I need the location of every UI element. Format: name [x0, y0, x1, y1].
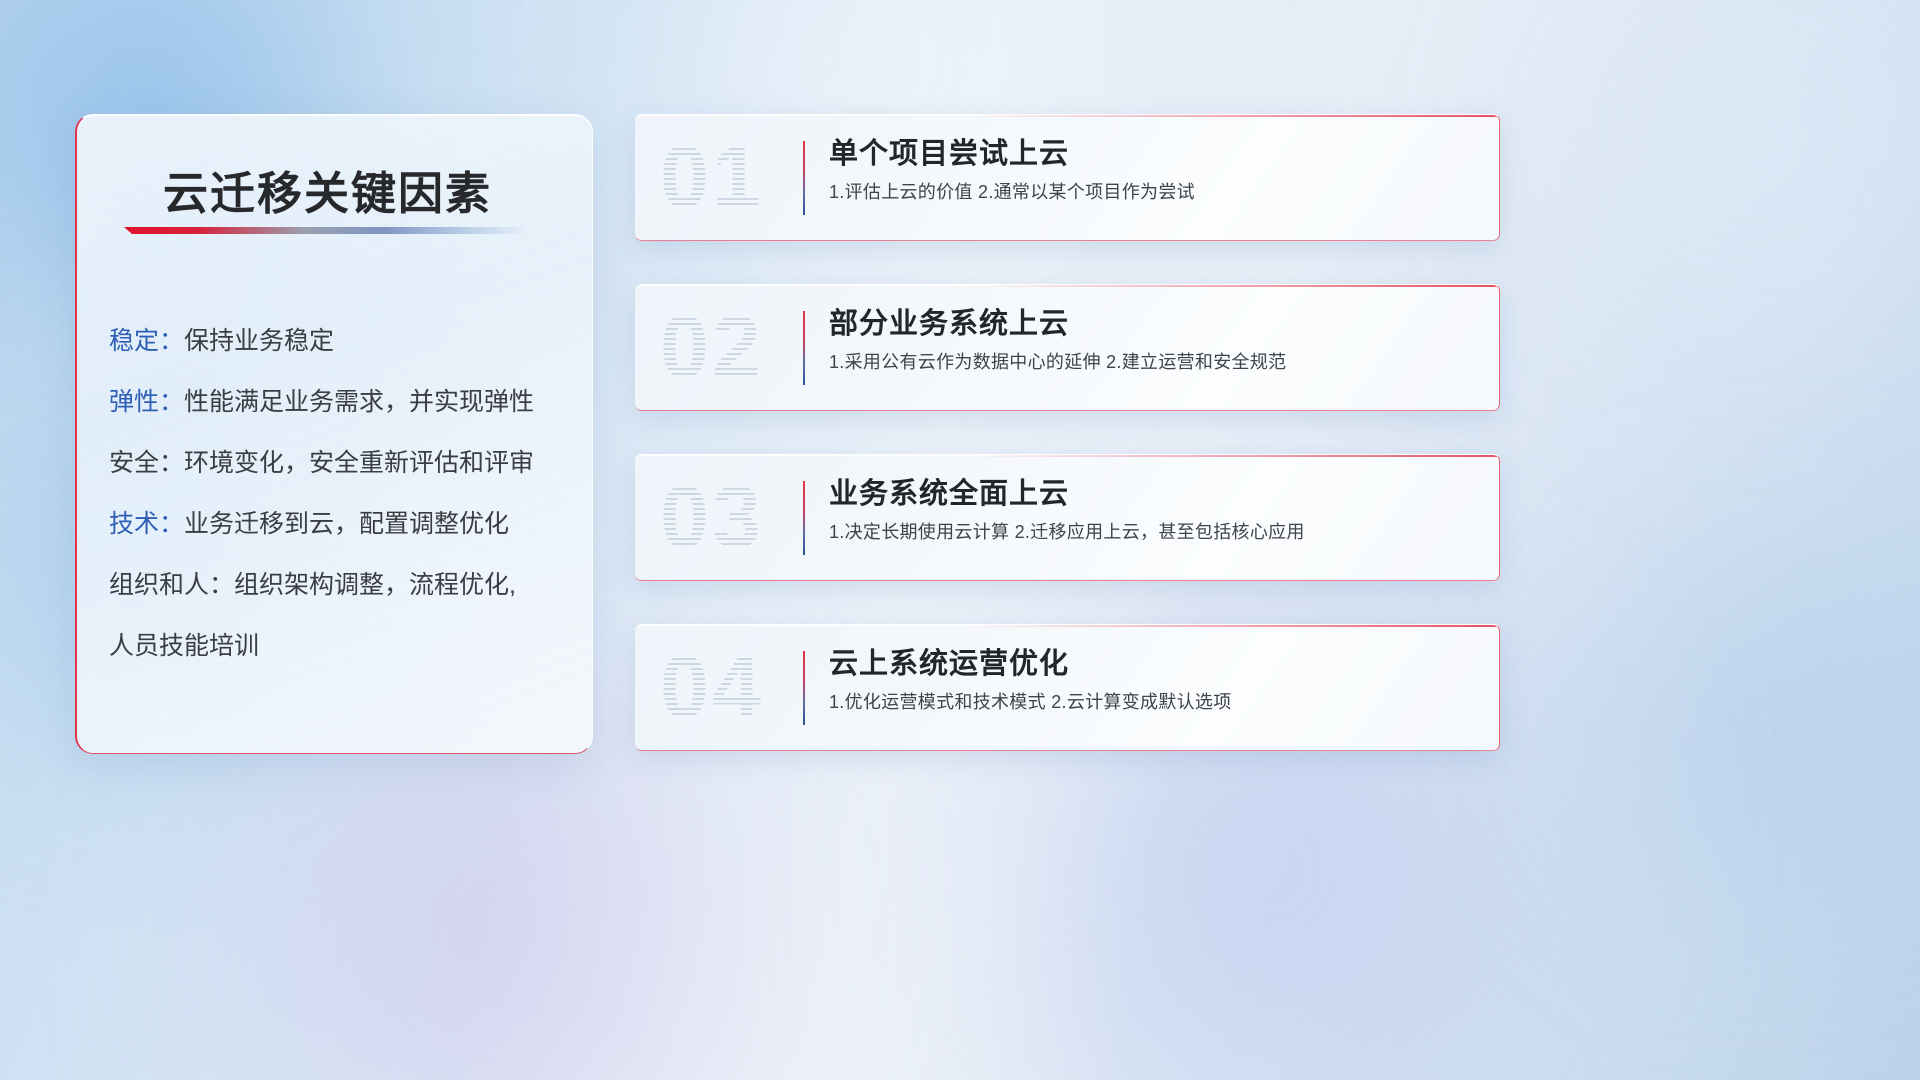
stage-number: 01 [660, 114, 764, 241]
stage-description: 1.优化运营模式和技术模式 2.云计算变成默认选项 [829, 685, 1475, 719]
stage-card-body: 业务系统全面上云 1.决定长期使用云计算 2.迁移应用上云，甚至包括核心应用 [829, 473, 1475, 549]
list-item: 人员技能培训 [109, 616, 574, 677]
accent-bar [803, 651, 805, 725]
stage-card[interactable]: 01 单个项目尝试上云 1.评估上云的价值 2.通常以某个项目作为尝试 [635, 114, 1500, 241]
stage-title: 部分业务系统上云 [829, 303, 1475, 345]
stage-description: 1.评估上云的价值 2.通常以某个项目作为尝试 [829, 175, 1475, 209]
stage-title: 业务系统全面上云 [829, 473, 1475, 515]
factor-list: 稳定：保持业务稳定 弹性：性能满足业务需求，并实现弹性 安全：环境变化，安全重新… [109, 311, 574, 677]
factor-label: 弹性： [109, 388, 184, 416]
stage-card-body: 部分业务系统上云 1.采用公有云作为数据中心的延伸 2.建立运营和安全规范 [829, 303, 1475, 379]
factor-label: 技术： [109, 510, 184, 538]
accent-bar [803, 141, 805, 215]
factor-text: 性能满足业务需求，并实现弹性 [184, 388, 534, 416]
factor-text: 人员技能培训 [109, 632, 259, 660]
stage-card-list: 01 单个项目尝试上云 1.评估上云的价值 2.通常以某个项目作为尝试 02 部… [635, 114, 1500, 794]
factor-text: 环境变化，安全重新评估和评审 [184, 449, 534, 477]
list-item: 弹性：性能满足业务需求，并实现弹性 [109, 372, 574, 433]
stage-description: 1.采用公有云作为数据中心的延伸 2.建立运营和安全规范 [829, 345, 1475, 379]
stage-card-body: 云上系统运营优化 1.优化运营模式和技术模式 2.云计算变成默认选项 [829, 643, 1475, 719]
stage-number: 02 [660, 284, 764, 411]
list-item: 组织和人：组织架构调整，流程优化, [109, 555, 574, 616]
page-title: 云迁移关键因素 [163, 157, 492, 222]
key-factors-panel: 云迁移关键因素 稳定：保持业务稳定 弹性：性能满足业务需求，并实现弹性 安全：环… [75, 114, 593, 754]
stage-number: 03 [660, 454, 764, 581]
factor-text: 保持业务稳定 [184, 327, 334, 355]
stage-description: 1.决定长期使用云计算 2.迁移应用上云，甚至包括核心应用 [829, 515, 1475, 549]
stage-title: 云上系统运营优化 [829, 643, 1475, 685]
accent-bar [803, 311, 805, 385]
list-item: 安全：环境变化，安全重新评估和评审 [109, 433, 574, 494]
stage-number: 04 [660, 624, 764, 751]
stage-card[interactable]: 04 云上系统运营优化 1.优化运营模式和技术模式 2.云计算变成默认选项 [635, 624, 1500, 751]
factor-text: 组织架构调整，流程优化, [234, 571, 516, 599]
stage-card[interactable]: 02 部分业务系统上云 1.采用公有云作为数据中心的延伸 2.建立运营和安全规范 [635, 284, 1500, 411]
factor-label: 稳定： [109, 327, 184, 355]
factor-label: 组织和人： [109, 571, 234, 599]
factor-label: 安全： [109, 449, 184, 477]
factor-text: 业务迁移到云，配置调整优化 [184, 510, 509, 538]
title-underline-divider [124, 227, 524, 234]
list-item: 技术：业务迁移到云，配置调整优化 [109, 494, 574, 555]
stage-title: 单个项目尝试上云 [829, 133, 1475, 175]
stage-card[interactable]: 03 业务系统全面上云 1.决定长期使用云计算 2.迁移应用上云，甚至包括核心应… [635, 454, 1500, 581]
accent-bar [803, 481, 805, 555]
list-item: 稳定：保持业务稳定 [109, 311, 574, 372]
stage-card-body: 单个项目尝试上云 1.评估上云的价值 2.通常以某个项目作为尝试 [829, 133, 1475, 209]
